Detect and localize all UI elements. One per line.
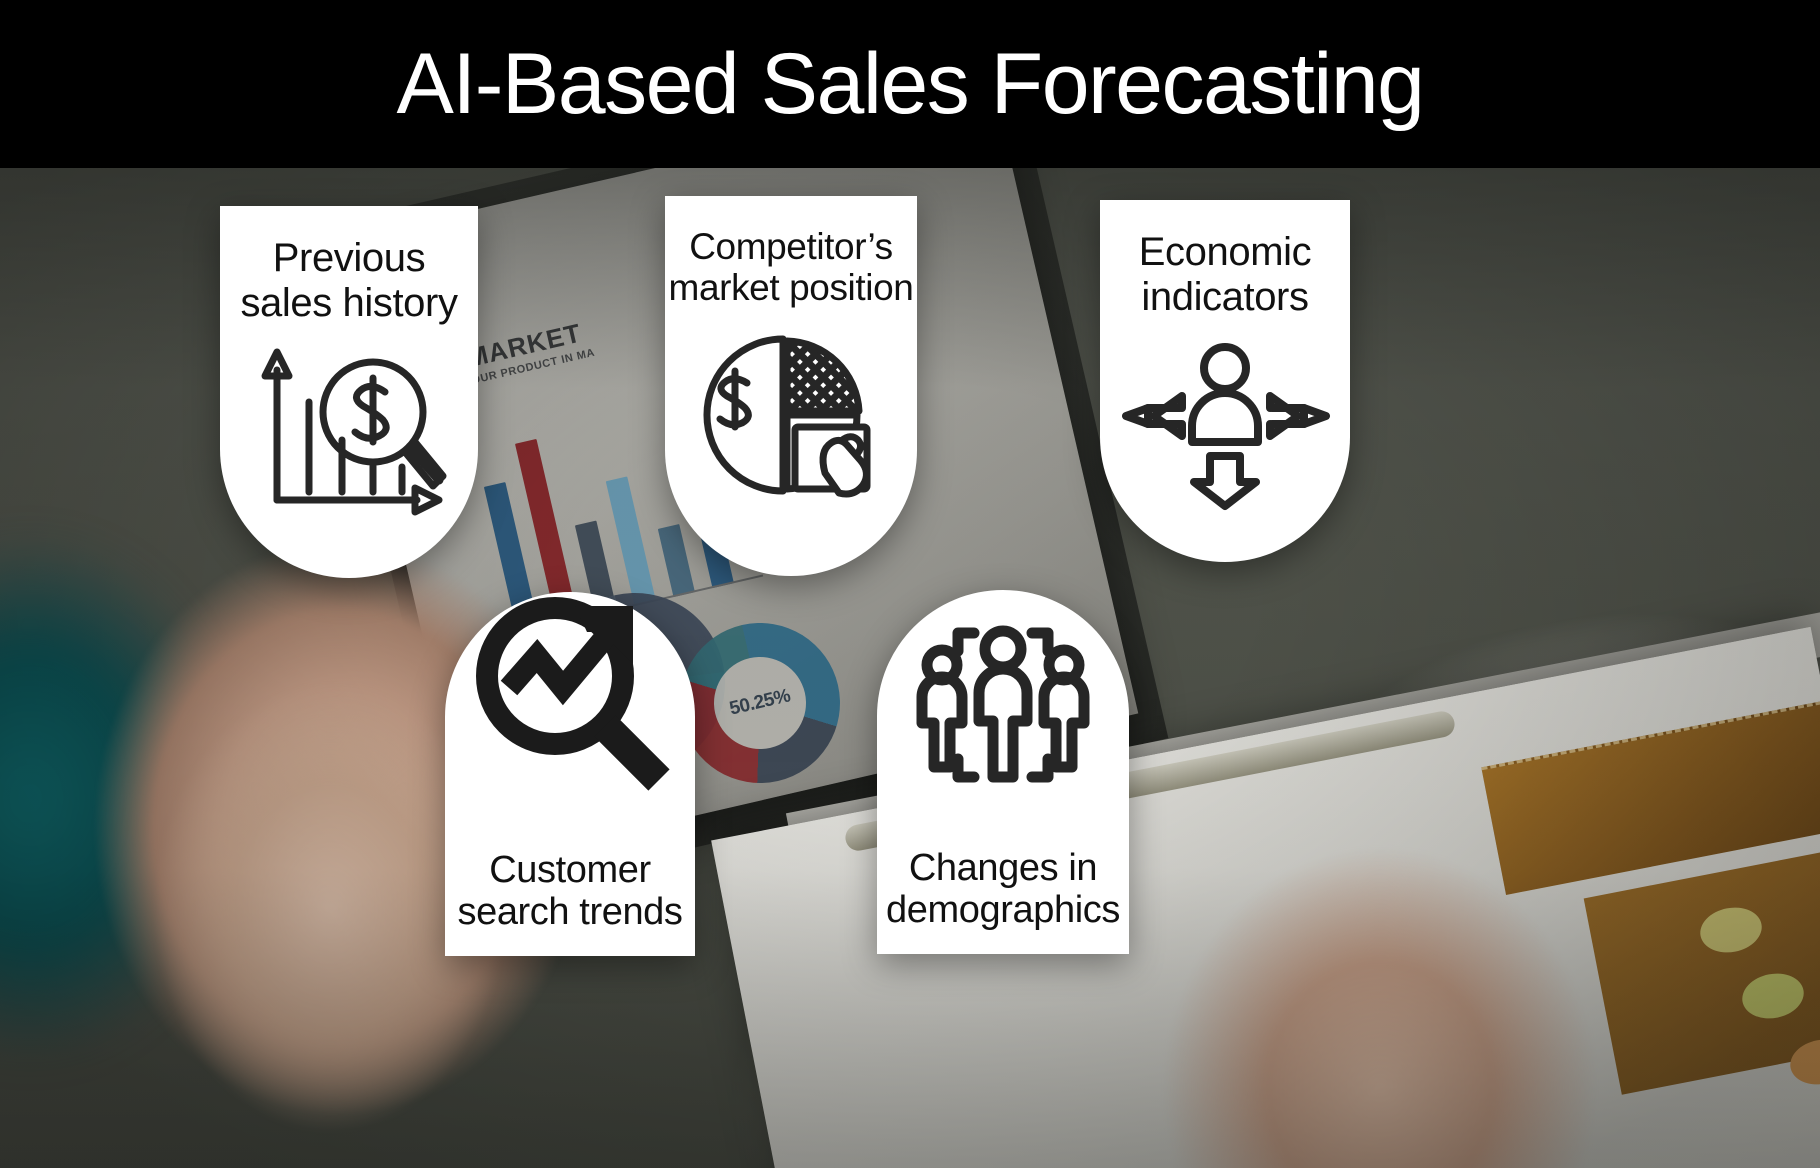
- page-title: AI-Based Sales Forecasting: [397, 41, 1424, 127]
- card-previous-sales-history[interactable]: Previous sales history: [220, 206, 478, 578]
- card-label-customer-search-trends: Customer search trends: [457, 849, 682, 934]
- card-customer-search-trends[interactable]: Customer search trends: [445, 592, 695, 956]
- card-label-competitors-market-position: Competitor’s market position: [669, 226, 914, 309]
- three-people-group-icon: [896, 601, 1111, 801]
- title-banner: AI-Based Sales Forecasting: [0, 0, 1820, 168]
- card-changes-in-demographics[interactable]: Changes in demographics: [877, 590, 1129, 954]
- card-label-previous-sales-history: Previous sales history: [240, 236, 457, 326]
- card-label-changes-in-demographics: Changes in demographics: [886, 847, 1120, 932]
- card-economic-indicators[interactable]: Economic indicators: [1100, 200, 1350, 562]
- card-competitors-market-position[interactable]: Competitor’s market position: [665, 196, 917, 576]
- pie-chart-dollar-hand-icon: [691, 323, 891, 513]
- card-label-economic-indicators: Economic indicators: [1139, 230, 1311, 320]
- declining-bar-chart-with-dollar-magnifier-icon: [247, 340, 452, 525]
- magnifier-with-upward-trend-arrow-icon: [463, 584, 678, 799]
- person-with-four-direction-arrows-icon: [1118, 334, 1333, 514]
